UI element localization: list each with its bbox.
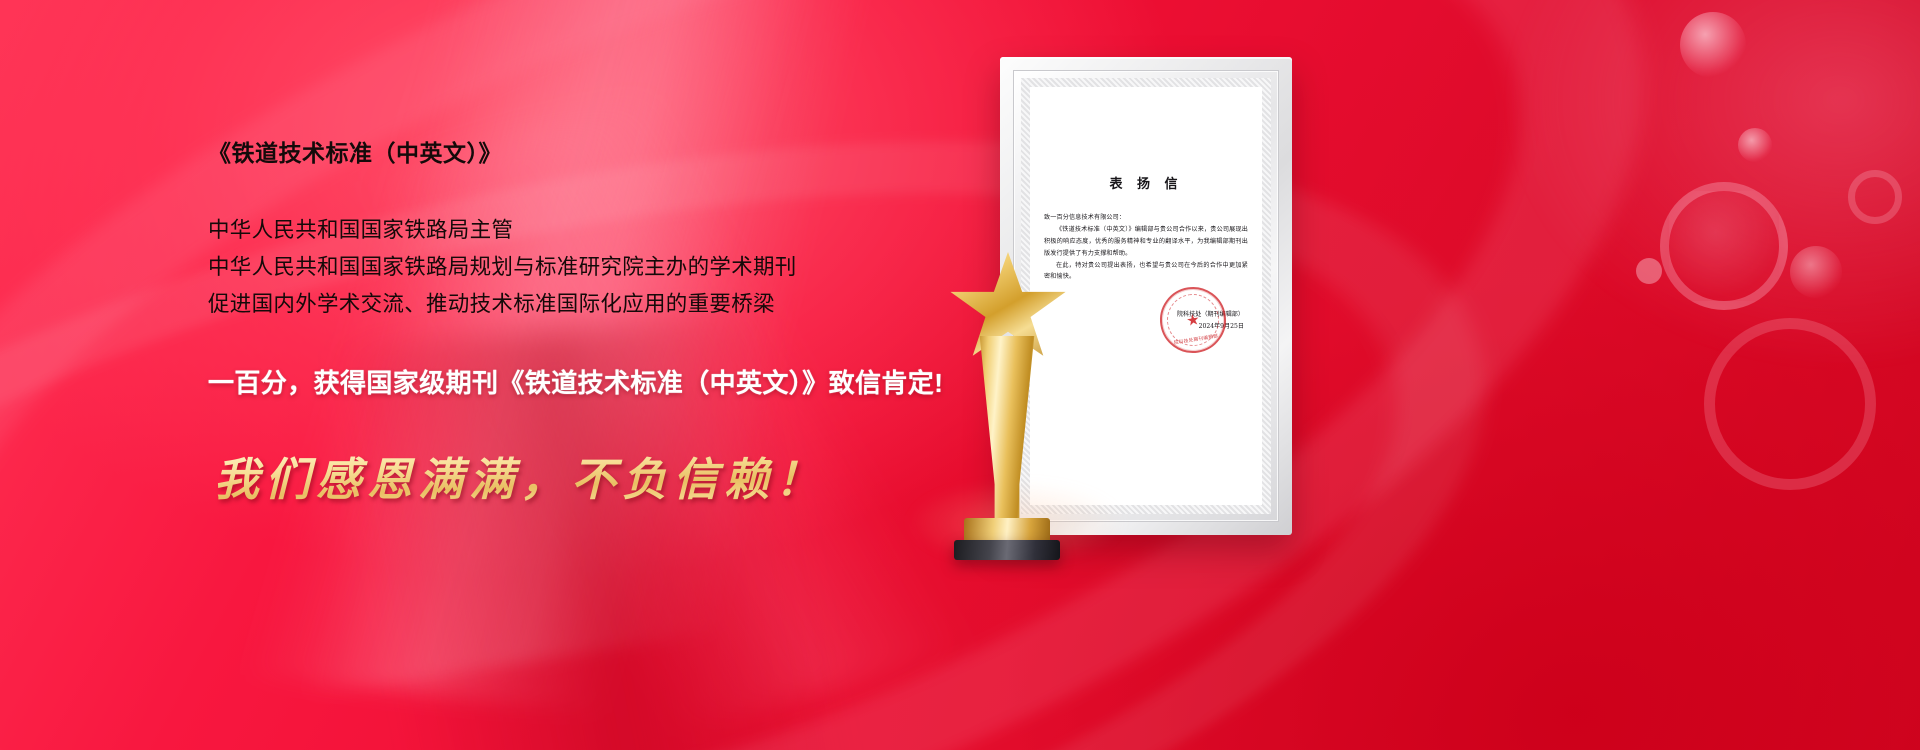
banner-text-block: 《铁道技术标准（中英文）》 中华人民共和国国家铁路局主管 中华人民共和国国家铁路… <box>208 140 1048 505</box>
bokeh-circle <box>1738 128 1772 162</box>
bokeh-ring <box>1660 182 1788 310</box>
bokeh-circle <box>1680 12 1746 78</box>
bokeh-ring <box>1848 170 1902 224</box>
official-seal-stamp: ★ 院科技处期刊编辑部 <box>1155 282 1231 358</box>
trophy-icon <box>932 252 1082 562</box>
corner-glow <box>1490 0 1920 380</box>
headline: 一百分，获得国家级期刊《铁道技术标准（中英文）》致信肯定! <box>208 367 1048 400</box>
subtitle-line-2: 中华人民共和国国家铁路局规划与标准研究院主办的学术期刊 <box>208 249 1048 286</box>
subtitle-line-3: 促进国内外学术交流、推动技术标准国际化应用的重要桥梁 <box>208 286 1048 323</box>
trophy-base-dark <box>954 540 1060 560</box>
bokeh-ring <box>1704 318 1876 490</box>
certificate-salutation: 致一百分信息技术有限公司： <box>1044 212 1248 224</box>
bokeh-dot <box>1636 258 1662 284</box>
journal-title: 《铁道技术标准（中英文）》 <box>208 140 1048 168</box>
certificate-title: 表 扬 信 <box>1044 173 1248 192</box>
subtitle-line-1: 中华人民共和国国家铁路局主管 <box>208 212 1048 249</box>
promo-banner: 《铁道技术标准（中英文）》 中华人民共和国国家铁路局主管 中华人民共和国国家铁路… <box>0 0 1920 750</box>
bokeh-circle <box>1790 246 1842 298</box>
